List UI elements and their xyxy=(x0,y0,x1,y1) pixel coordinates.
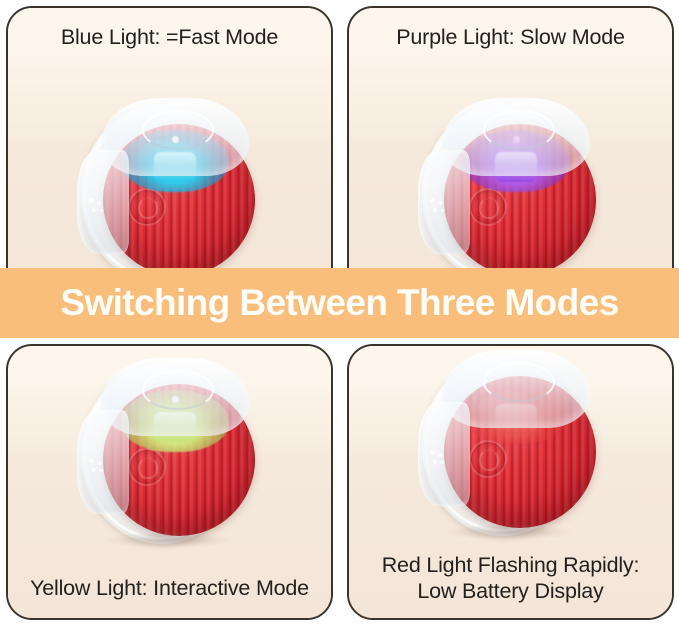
feature-card-bottom-left: Yellow Light: Interactive Mode xyxy=(6,344,333,620)
product-ball-purple xyxy=(418,96,604,292)
side-clip xyxy=(418,402,470,506)
clip-texture xyxy=(85,454,107,476)
card-caption-bottom-right: Red Light Flashing Rapidly: Low Battery … xyxy=(349,552,672,604)
ball-shadow xyxy=(446,524,572,540)
clip-texture xyxy=(426,446,448,468)
ball-shadow xyxy=(105,532,231,548)
banner-title: Switching Between Three Modes xyxy=(60,282,618,324)
card-caption-bottom-left: Yellow Light: Interactive Mode xyxy=(8,575,331,601)
cap-arc-highlight xyxy=(142,370,214,410)
product-feature-grid: Blue Light: =Fast Mode xyxy=(0,0,679,625)
product-ball-red xyxy=(418,348,604,544)
center-banner: Switching Between Three Modes xyxy=(0,268,679,338)
ball-logo-emboss xyxy=(469,188,507,226)
cap-arc-highlight xyxy=(483,110,555,150)
ball-logo-emboss xyxy=(469,440,507,478)
product-ball-blue xyxy=(77,96,263,292)
side-clip xyxy=(77,150,129,254)
side-clip xyxy=(77,410,129,514)
cap-arc-highlight xyxy=(483,362,555,402)
side-clip xyxy=(418,150,470,254)
clip-texture xyxy=(426,194,448,216)
feature-card-bottom-right: Red Light Flashing Rapidly: Low Battery … xyxy=(347,344,674,620)
cap-arc-highlight xyxy=(142,110,214,150)
card-caption-top-right: Purple Light: Slow Mode xyxy=(349,24,672,50)
product-photo-bottom-left xyxy=(8,350,331,558)
product-photo-bottom-right xyxy=(349,350,672,542)
ball-logo-emboss xyxy=(128,188,166,226)
ball-logo-emboss xyxy=(128,448,166,486)
clip-texture xyxy=(85,194,107,216)
product-ball-yellow xyxy=(77,356,263,552)
card-caption-top-left: Blue Light: =Fast Mode xyxy=(8,24,331,50)
